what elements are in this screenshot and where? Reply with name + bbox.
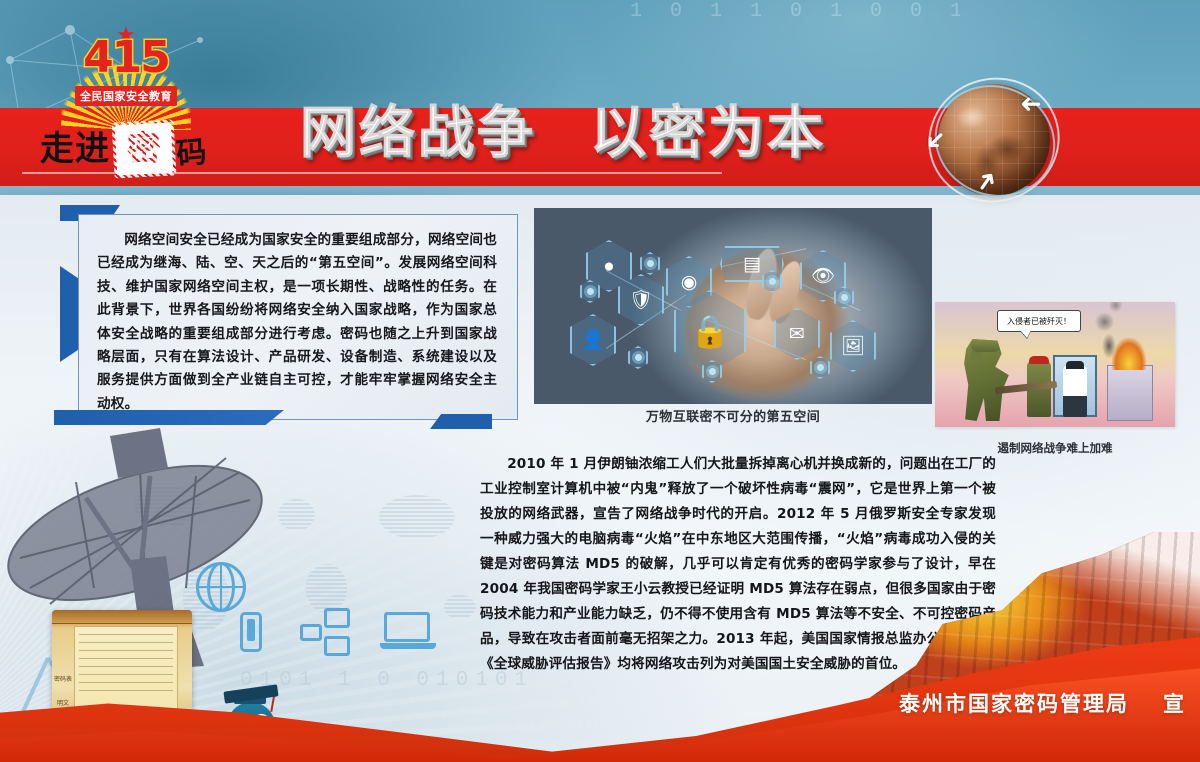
laptop-screen xyxy=(384,612,430,642)
scroll-rule-3 xyxy=(79,650,173,651)
globe-arc-icon xyxy=(207,562,235,612)
scroll-rule-4 xyxy=(79,658,173,659)
title-part-1: 网络战争 xyxy=(300,106,536,162)
page-title: 网络战争 以密为本 xyxy=(300,96,826,172)
poster-root: 1 0 1 1 0 1 0 0 1 1 0 0 1 1 1 0 0 1 1 0 … xyxy=(0,0,1200,762)
scroll-rule-1 xyxy=(79,634,173,635)
cartoon-illustration: 入侵者已被歼灭！ xyxy=(935,302,1175,427)
mobile-phone-icon xyxy=(240,612,262,652)
laptop-icon xyxy=(380,612,436,652)
title-part-2: 以密为本 xyxy=(590,106,826,162)
intro-paragraph: 网络空间安全已经成为国家安全的重要组成部分，网络空间也已经成为继海、陆、空、天之… xyxy=(97,229,497,416)
speech-bubble: 入侵者已被歼灭！ xyxy=(997,310,1081,332)
photo-hand-caption: 万物互联密不可分的第五空间 xyxy=(534,406,932,425)
accent-corner-bottom-left xyxy=(54,410,284,425)
helmet-icon xyxy=(971,336,1001,352)
scroll-rule-5 xyxy=(79,666,173,667)
soldier-figure xyxy=(961,339,1013,421)
officer-figure xyxy=(1063,365,1087,417)
brand-seal-stamp: 密 xyxy=(115,123,174,176)
body-paragraph: 2010 年 1 月伊朗铀浓缩工人们大批量拆掉离心机并换成新的，问题出在工厂的工… xyxy=(480,452,996,677)
scroll-rule-6 xyxy=(79,674,173,675)
scroll-label-1: 密码表 xyxy=(54,674,72,683)
monitor-icon-left xyxy=(300,624,322,641)
scroll-rule-7 xyxy=(79,682,173,683)
body-text-block: 2010 年 1 月伊朗铀浓缩工人们大批量拆掉离心机并换成新的，问题出在工厂的工… xyxy=(480,452,996,677)
officer-cap-icon xyxy=(1066,361,1084,369)
national-security-education-emblem: ★ 415 全民国家安全教育 xyxy=(62,8,190,106)
network-topology-icon xyxy=(300,608,362,656)
brand-seal-char: 密 xyxy=(126,131,162,167)
user-icon: 👤 xyxy=(570,314,616,366)
monitor-icon-top xyxy=(324,608,350,628)
scroll-label-2: 明文 xyxy=(54,698,72,707)
cybersecurity-hand-photo: ● 🛡 👤 ◉ 🔒 ▤ 👁 ✉ 🖼 xyxy=(534,208,932,404)
footer-org-name: 泰州市国家密码管理局 xyxy=(899,688,1129,718)
brand-prefix: 走进 xyxy=(40,132,110,166)
beret-icon xyxy=(1029,356,1049,364)
scroll-rule-2 xyxy=(79,642,173,643)
fire-icon xyxy=(1112,338,1146,370)
footer-organization: 泰州市国家密码管理局 宣 xyxy=(899,688,1186,718)
emblem-subtitle: 全民国家安全教育 xyxy=(75,86,177,106)
small-node-icon-1 xyxy=(640,252,660,275)
small-node-icon-3 xyxy=(628,346,648,369)
footer-org-suffix: 宣 xyxy=(1163,688,1186,718)
binary-digits-top: 1 0 1 1 0 1 0 0 1 1 0 0 1 1 1 0 0 1 1 0 … xyxy=(630,0,960,110)
intro-textbox-wrapper: 网络空间安全已经成为国家安全的重要组成部分，网络空间也已经成为继海、陆、空、天之… xyxy=(78,214,518,420)
intro-textbox: 网络空间安全已经成为国家安全的重要组成部分，网络空间也已经成为继海、陆、空、天之… xyxy=(78,214,518,420)
burning-server-shape xyxy=(1107,365,1153,421)
accent-corner-left xyxy=(60,266,80,362)
emblem-number: 415 xyxy=(83,36,169,80)
monitor-icon-bottom xyxy=(324,636,350,656)
brand-zoujin-mima: 走进 密 码 xyxy=(40,118,245,180)
globe-arrow-top-icon: ➜ xyxy=(1020,92,1042,118)
brand-suffix: 码 xyxy=(175,137,208,170)
scroll-rule-8 xyxy=(79,690,173,691)
globe-network-icon xyxy=(196,562,246,612)
laptop-base xyxy=(380,643,436,649)
